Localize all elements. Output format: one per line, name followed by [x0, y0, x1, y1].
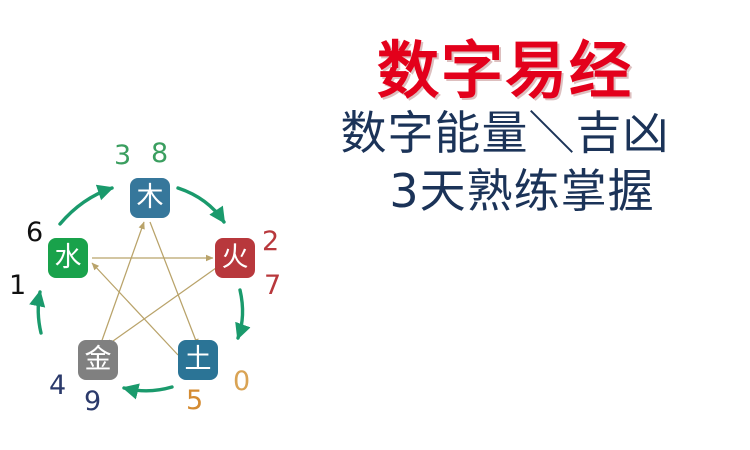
generating-arrow-earth-metal — [124, 387, 172, 391]
element-box-fire[interactable]: 火 — [215, 238, 255, 278]
poster-subtitle-line-2: 3天熟练掌握 — [275, 163, 735, 221]
number-label-2: 2 — [262, 228, 279, 255]
overcoming-line-fire-metal — [106, 268, 216, 346]
number-label-4: 4 — [49, 372, 66, 399]
number-label-9: 9 — [84, 388, 101, 415]
number-label-0: 0 — [233, 368, 250, 395]
generating-arrow-water-wood — [60, 188, 112, 224]
overcoming-line-wood-earth — [150, 222, 198, 346]
element-box-wood[interactable]: 木 — [130, 178, 170, 218]
number-label-5: 5 — [186, 387, 203, 414]
five-elements-diagram: 木 火 土 金 水 3 8 2 7 5 0 4 9 6 1 — [0, 150, 300, 440]
number-label-6: 6 — [26, 219, 43, 246]
number-label-8: 8 — [151, 140, 168, 167]
element-box-earth[interactable]: 土 — [178, 340, 218, 380]
generating-arrow-fire-earth — [238, 290, 243, 338]
overcoming-line-metal-wood — [100, 222, 144, 346]
poster-subtitle-line-1: 数字能量＼吉凶 — [275, 105, 735, 163]
poster-canvas: 木 火 土 金 水 3 8 2 7 5 0 4 9 6 1 数字易经 数字能量＼… — [0, 0, 750, 450]
generating-arrow-metal-water — [38, 292, 41, 333]
number-label-7: 7 — [264, 272, 281, 299]
element-box-water[interactable]: 水 — [48, 238, 88, 278]
number-label-1: 1 — [9, 272, 26, 299]
poster-text-block: 数字易经 数字能量＼吉凶 3天熟练掌握 — [275, 38, 735, 220]
overcoming-cycle-lines — [92, 222, 216, 355]
number-label-3: 3 — [114, 142, 131, 169]
poster-title: 数字易经 — [275, 38, 735, 103]
generating-arrow-wood-fire — [178, 188, 224, 222]
element-box-metal[interactable]: 金 — [78, 340, 118, 380]
